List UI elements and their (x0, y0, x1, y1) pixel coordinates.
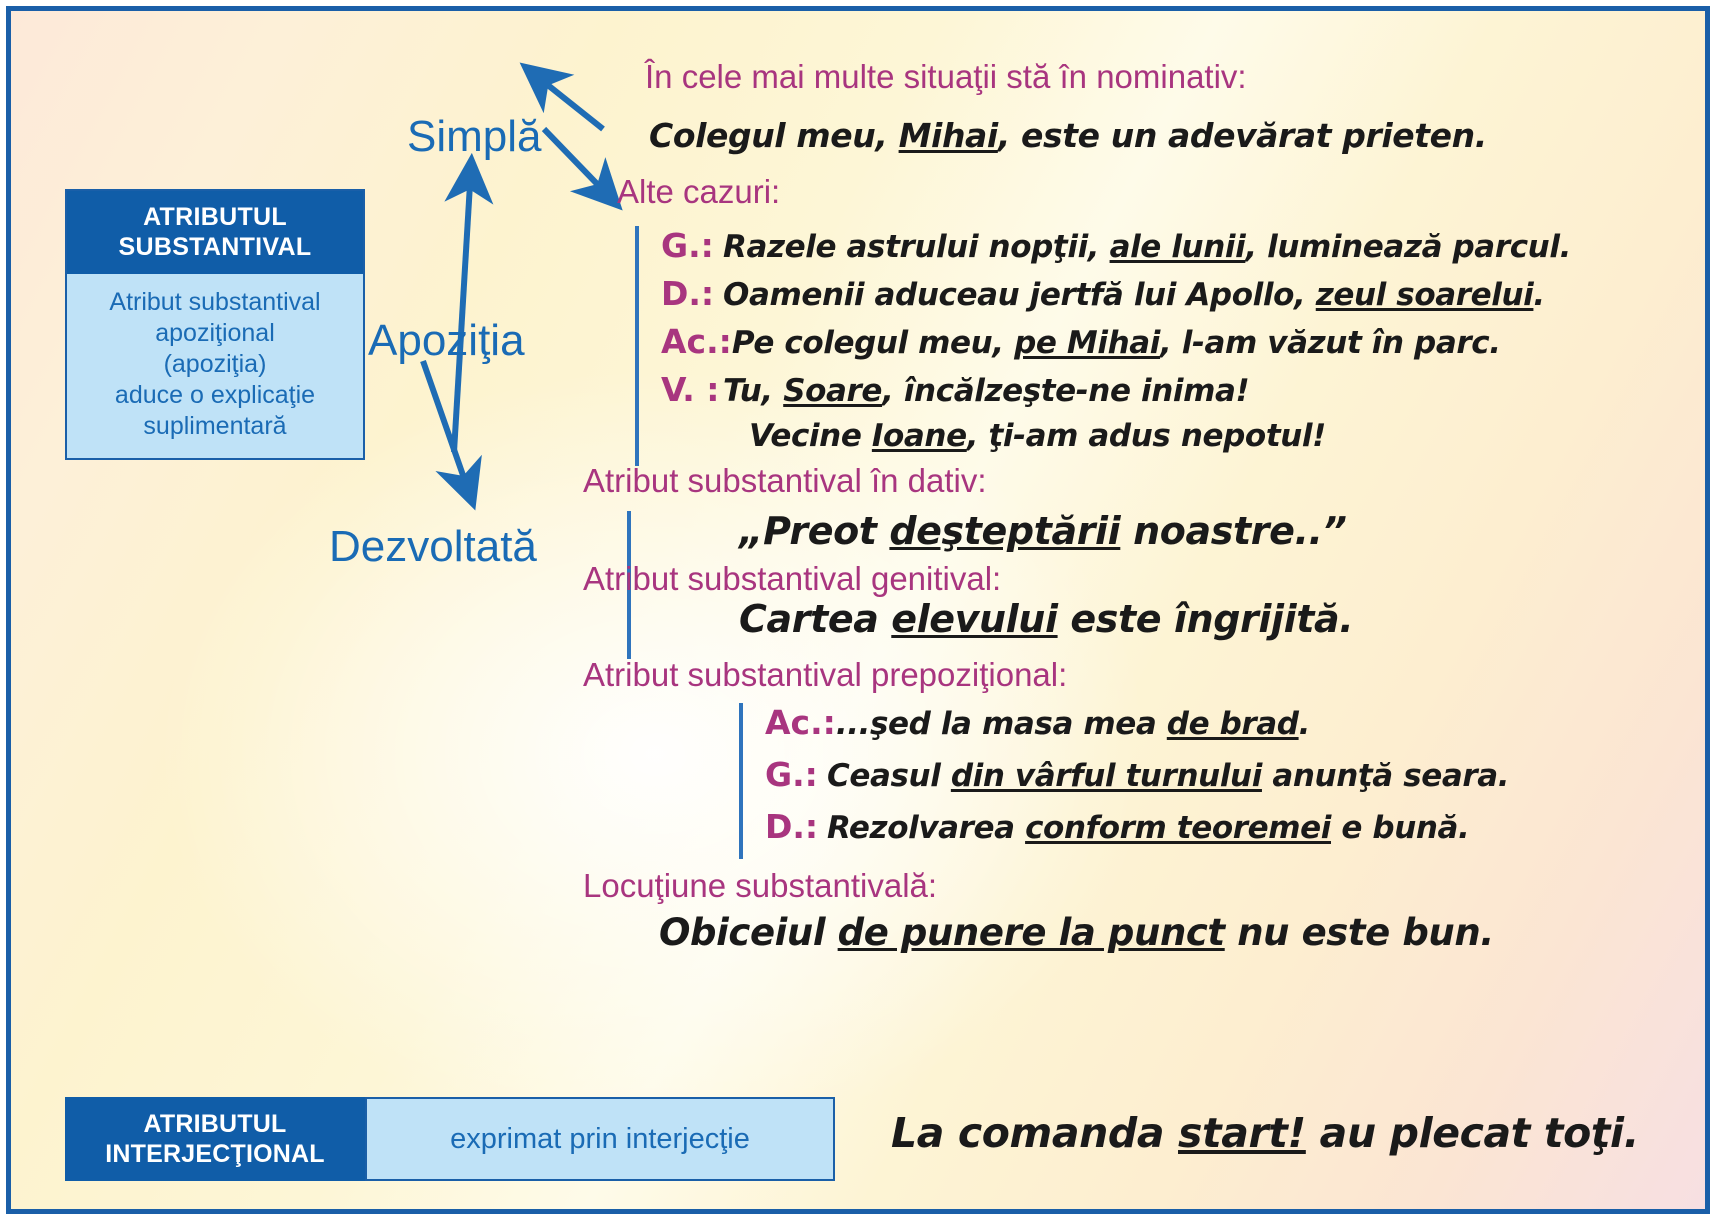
example-nominativ-pre: Colegul meu, (649, 116, 899, 155)
prep-ac-underline: de brad (1167, 706, 1299, 742)
prep-case-text-d: Rezolvarea conform teoremei e bună. (827, 810, 1469, 846)
case-v-underline: Soare (783, 373, 882, 409)
case-row-genitiv: G.: Razele astrului nopţii, ale lunii, l… (661, 226, 1571, 274)
locutiune-underline: de punere la punct (838, 911, 1225, 954)
branch-label-apozitia: Apoziţia (368, 316, 525, 366)
prep-d-pre: Rezolvarea (827, 810, 1025, 846)
case-g-underline: ale lunii (1110, 229, 1246, 265)
case-label-d: D.: (661, 274, 723, 313)
atributul-interjectional-bar: ATRIBUTUL INTERJECŢIONAL exprimat prin i… (65, 1097, 835, 1181)
case-g-pre: Razele astrului nopţii, (723, 229, 1110, 265)
case-d-post: . (1533, 277, 1544, 313)
header-alte-cazuri: Alte cazuri: (617, 172, 780, 212)
case-text-d: Oamenii aduceau jertfă lui Apollo, zeul … (723, 277, 1545, 313)
case-row-dativ: D.: Oamenii aduceau jertfă lui Apollo, z… (661, 274, 1571, 322)
case-list-simpla: G.: Razele astrului nopţii, ale lunii, l… (635, 226, 1571, 466)
arrow-simpla-to-alte-cazuri (544, 129, 601, 188)
case-v-post: , încălzeşte-ne inima! (882, 373, 1249, 409)
vocativ-extra-underline: Ioane (872, 418, 967, 454)
atributul-substantival-box: ATRIBUTUL SUBSTANTIVAL Atribut substanti… (65, 189, 365, 460)
case-list-prepozitional: Ac.: ...şed la masa mea de brad. G.: Cea… (739, 703, 1509, 859)
vocativ-extra-post: , ţi-am adus nepotul! (967, 418, 1326, 454)
case-ac-pre: Pe colegul meu, (732, 325, 1014, 361)
case-row-vocativ-extra: Vecine Ioane, ţi-am adus nepotul! (661, 418, 1571, 466)
dativ-pre: „Preot (739, 509, 889, 553)
header-line-2: SUBSTANTIVAL (71, 232, 359, 262)
example-locutiune: Obiceiul de punere la punct nu este bun. (659, 912, 1494, 954)
body-line-2: apoziţional (73, 318, 357, 349)
example-nominativ-underline: Mihai (899, 116, 998, 155)
case-text-g: Razele astrului nopţii, ale lunii, lumin… (723, 229, 1571, 265)
interjectional-underline: start! (1178, 1109, 1306, 1157)
prep-ac-pre: ...şed la masa mea (836, 706, 1167, 742)
header-line-1: ATRIBUTUL (71, 202, 359, 232)
locutiune-post: nu este bun. (1225, 911, 1494, 954)
atributul-interjectional-header: ATRIBUTUL INTERJECŢIONAL (65, 1097, 365, 1181)
dativ-post: noastre..” (1120, 509, 1346, 553)
prep-case-label-ac: Ac.: (765, 703, 836, 742)
locutiune-pre: Obiceiul (659, 911, 838, 954)
header-prepozitional: Atribut substantival prepoziţional: (583, 655, 1067, 695)
diagram-page: ATRIBUTUL SUBSTANTIVAL Atribut substanti… (0, 0, 1716, 1220)
case-d-pre: Oamenii aduceau jertfă lui Apollo, (723, 277, 1316, 313)
case-label-v: V. : (661, 370, 723, 409)
body-line-3: (apoziţia) (73, 349, 357, 380)
atributul-interjectional-body: exprimat prin interjecţie (365, 1097, 835, 1181)
bar-header-line-1: ATRIBUTUL (83, 1109, 347, 1139)
example-dativ: „Preot deşteptării noastre..” (739, 510, 1347, 552)
case-g-post: , luminează parcul. (1245, 229, 1571, 265)
case-ac-post: , l-am văzut în parc. (1160, 325, 1501, 361)
body-line-5: suplimentară (73, 411, 357, 442)
example-genitiv: Cartea elevului este îngrijită. (739, 598, 1353, 640)
genitiv-post: este îngrijită. (1058, 597, 1354, 641)
case-v-pre: Tu, (723, 373, 783, 409)
prep-case-text-g: Ceasul din vârful turnului anunţă seara. (827, 758, 1509, 794)
prep-g-underline: din vârful turnului (951, 758, 1262, 794)
case-text-v: Tu, Soare, încălzeşte-ne inima! (723, 373, 1249, 409)
header-genitiv: Atribut substantival genitival: (583, 559, 1001, 599)
case-label-ac: Ac.: (661, 322, 732, 361)
interjectional-pre: La comanda (891, 1109, 1178, 1157)
case-row-vocativ: V. : Tu, Soare, încălzeşte-ne inima! (661, 370, 1571, 418)
header-locutiune: Locuţiune substantivală: (583, 866, 937, 906)
case-d-underline: zeul soarelui (1316, 277, 1534, 313)
header-dativ: Atribut substantival în dativ: (583, 461, 987, 501)
diagram-frame: ATRIBUTUL SUBSTANTIVAL Atribut substanti… (6, 6, 1710, 1214)
vocativ-extra-pre: Vecine (749, 418, 872, 454)
prep-d-post: e bună. (1331, 810, 1469, 846)
prep-case-row-dativ: D.: Rezolvarea conform teoremei e bună. (765, 807, 1509, 859)
branch-label-simpla: Simplă (407, 112, 542, 162)
case-text-vocativ-extra: Vecine Ioane, ţi-am adus nepotul! (749, 418, 1326, 454)
body-line-4: aduce o explicaţie (73, 380, 357, 411)
case-row-acuzativ: Ac.: Pe colegul meu, pe Mihai, l-am văzu… (661, 322, 1571, 370)
arrow-simpla-to-nominativ (544, 82, 603, 129)
bar-header-line-2: INTERJECŢIONAL (83, 1139, 347, 1169)
case-text-ac: Pe colegul meu, pe Mihai, l-am văzut în … (732, 325, 1501, 361)
prep-case-label-g: G.: (765, 755, 827, 794)
case-ac-underline: pe Mihai (1014, 325, 1160, 361)
interjectional-post: au plecat toţi. (1306, 1109, 1639, 1157)
prep-g-post: anunţă seara. (1262, 758, 1509, 794)
prep-d-underline: conform teoremei (1025, 810, 1331, 846)
prep-case-text-ac: ...şed la masa mea de brad. (836, 706, 1310, 742)
prep-case-row-acuzativ: Ac.: ...şed la masa mea de brad. (765, 703, 1509, 755)
header-nominativ: În cele mai multe situaţii stă în nomina… (645, 57, 1247, 97)
prep-g-pre: Ceasul (827, 758, 951, 794)
prep-case-label-d: D.: (765, 807, 827, 846)
example-interjectional: La comanda start! au plecat toţi. (891, 1103, 1639, 1163)
genitiv-underline: elevului (891, 597, 1057, 641)
example-nominativ-post: , este un adevărat prieten. (998, 116, 1487, 155)
atributul-substantival-header: ATRIBUTUL SUBSTANTIVAL (67, 191, 363, 274)
dativ-underline: deşteptării (889, 509, 1120, 553)
genitiv-pre: Cartea (739, 597, 891, 641)
example-nominativ: Colegul meu, Mihai, este un adevărat pri… (649, 115, 1487, 157)
case-label-g: G.: (661, 226, 723, 265)
prep-ac-post: . (1299, 706, 1310, 742)
prep-case-row-genitiv: G.: Ceasul din vârful turnului anunţă se… (765, 755, 1509, 807)
body-line-1: Atribut substantival (73, 287, 357, 318)
branch-label-dezvoltata: Dezvoltată (329, 522, 537, 572)
atributul-substantival-body: Atribut substantival apoziţional (apoziţ… (67, 274, 363, 458)
